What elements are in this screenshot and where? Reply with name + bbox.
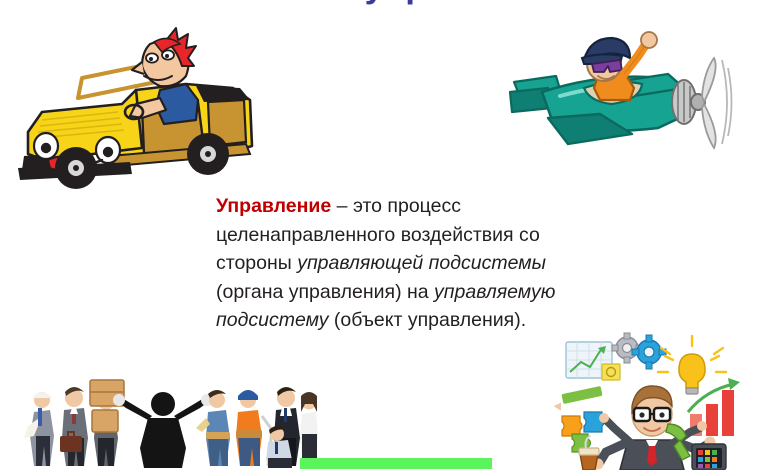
definition-paragraph: Управление – это процесс целенаправленно… [216,192,608,335]
crowd-illustration [20,374,320,470]
green-accent-bar [300,458,492,469]
car-illustration [18,28,268,200]
definition-italic1: управляющей подсистемы [297,252,546,274]
page-title: Что такое управление? [0,0,780,6]
definition-term: Управление [216,195,331,217]
definition-dash: – [331,195,353,217]
slide-canvas: Что такое управление? [0,0,780,470]
business-multitasking-illustration [540,328,780,470]
airplane-illustration [508,30,736,172]
definition-part3: (объект управления). [328,309,526,331]
definition-part2: (органа управления) на [216,281,434,303]
